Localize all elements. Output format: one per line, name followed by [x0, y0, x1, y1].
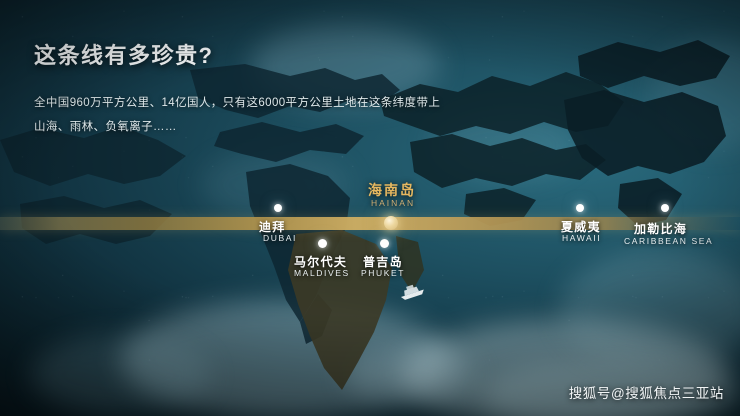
vignette-overlay: [0, 0, 740, 416]
promo-map-image: 迪拜 DUBAI 马尔代夫 MALDIVES 普吉岛 PHUKET 海南岛 HA…: [0, 0, 740, 416]
watermark: 搜狐号@搜狐焦点三亚站: [569, 382, 724, 402]
